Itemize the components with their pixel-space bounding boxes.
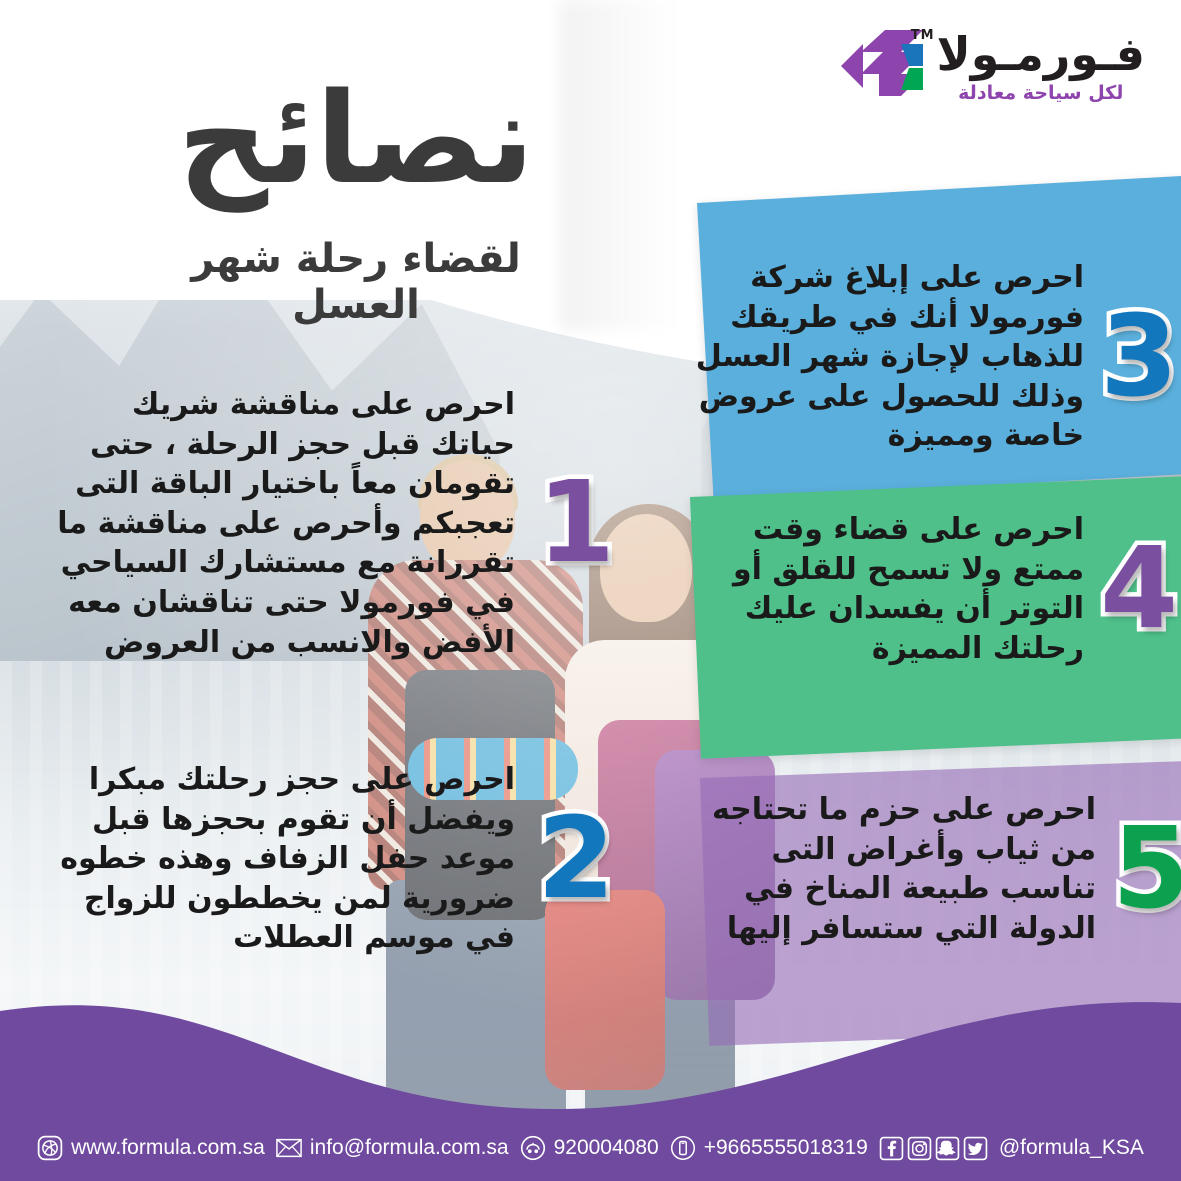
globe-icon — [37, 1135, 63, 1161]
footer-phone[interactable]: 920004080 — [520, 1135, 659, 1161]
footer-email[interactable]: info@formula.com.sa — [276, 1135, 509, 1161]
tip-text-5: احرص على حزم ما تحتاجه من ثياب وأغراض ال… — [701, 790, 1096, 948]
tip-text-2: احرص على حجز رحلتك مبكرا ويفضل أن تقوم ب… — [45, 760, 515, 958]
infographic-poster: فـورمـولاTM لكل سياحة معادلة نصائح لقضاء… — [0, 0, 1181, 1181]
tip-item-5: 5 احرص على حزم ما تحتاجه من ثياب وأغراض … — [690, 790, 1181, 948]
tip-number-3: 3 — [1100, 307, 1178, 408]
brand-logo-tagline: لكل سياحة معادلة — [937, 82, 1145, 104]
tip-item-1: 1 احرص على مناقشة شريك حياتك قبل حجز الر… — [40, 385, 615, 662]
footer-social-icons — [879, 1136, 988, 1161]
brand-logo-wordmark: فـورمـولاTM — [937, 31, 1145, 77]
footer-email-text: info@formula.com.sa — [310, 1136, 509, 1160]
trademark-symbol: TM — [911, 29, 935, 42]
tip-number-1: 1 — [537, 473, 615, 574]
footer-contact-bar: www.formula.com.sa info@formula.com.sa 9… — [0, 1115, 1181, 1181]
footer-social-handle[interactable]: @formula_KSA — [999, 1136, 1144, 1160]
footer-website[interactable]: www.formula.com.sa — [37, 1135, 265, 1161]
tip-number-4: 4 — [1100, 539, 1178, 640]
brand-logo-text: فـورمـولاTM لكل سياحة معادلة — [937, 31, 1145, 104]
tip-number-2: 2 — [537, 809, 615, 910]
footer-social-handle-text: @formula_KSA — [999, 1136, 1144, 1160]
page-subtitle: لقضاء رحلة شهر العسل — [131, 236, 581, 328]
tip-item-4: 4 احرص على قضاء وقت ممتع ولا تسمح للقلق … — [678, 510, 1178, 668]
facebook-icon[interactable] — [879, 1136, 904, 1161]
page-title: نصائح — [131, 76, 581, 202]
twitter-icon[interactable] — [963, 1136, 988, 1161]
tip-item-3: 3 احرص على إبلاغ شركة فورمولا أنك في طري… — [678, 258, 1178, 456]
tip-item-2: 2 احرص على حجز رحلتك مبكرا ويفضل أن تقوم… — [40, 760, 615, 958]
snapchat-icon[interactable] — [935, 1136, 960, 1161]
tip-number-5: 5 — [1112, 819, 1181, 920]
telephone-icon — [520, 1135, 546, 1161]
tip-text-3: احرص على إبلاغ شركة فورمولا أنك في طريقك… — [684, 258, 1084, 456]
tip-text-4: احرص على قضاء وقت ممتع ولا تسمح للقلق أو… — [684, 510, 1084, 668]
headline-block: نصائح لقضاء رحلة شهر العسل — [131, 76, 581, 328]
envelope-icon — [276, 1135, 302, 1161]
tip-text-1: احرص على مناقشة شريك حياتك قبل حجز الرحل… — [45, 385, 515, 662]
footer-phone-text: 920004080 — [554, 1136, 659, 1160]
brand-logo: فـورمـولاTM لكل سياحة معادلة — [839, 28, 1145, 106]
footer-website-text: www.formula.com.sa — [71, 1136, 265, 1160]
mobile-icon — [670, 1135, 696, 1161]
instagram-icon[interactable] — [907, 1136, 932, 1161]
footer-mobile-text: +9665555018319 — [704, 1136, 868, 1160]
footer-mobile[interactable]: +9665555018319 — [670, 1135, 868, 1161]
